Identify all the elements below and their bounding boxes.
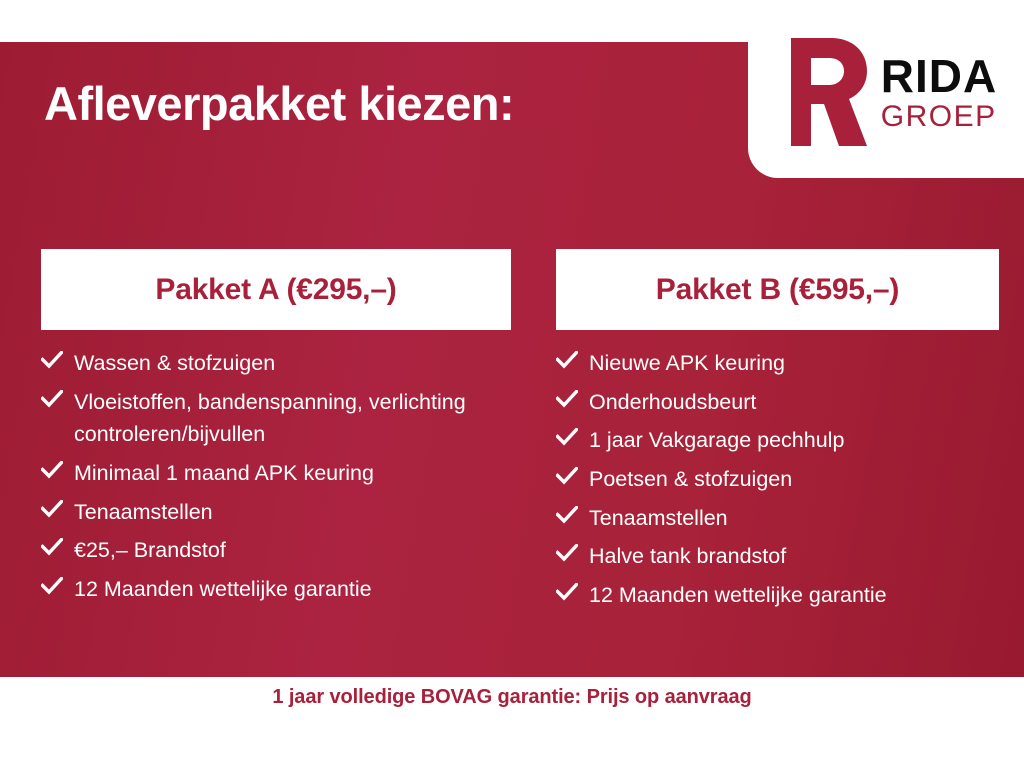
list-item: 1 jaar Vakgarage pechhulp — [556, 424, 999, 457]
brand-logo-panel: RIDA GROEP — [748, 0, 1024, 178]
list-item: Tenaamstellen — [556, 502, 999, 535]
feature-label: 12 Maanden wettelijke garantie — [74, 573, 372, 606]
list-item: Vloeistoffen, bandenspanning, verlichtin… — [41, 386, 511, 451]
packages-container: Pakket A (€295,–) Wassen & stofzuigen Vl… — [0, 249, 1024, 618]
package-column-a: Pakket A (€295,–) Wassen & stofzuigen Vl… — [41, 249, 511, 618]
footer-note: 1 jaar volledige BOVAG garantie: Prijs o… — [0, 686, 1024, 709]
logo-inner: RIDA GROEP — [781, 38, 997, 146]
check-icon — [41, 577, 63, 595]
check-icon — [41, 500, 63, 518]
feature-label: 1 jaar Vakgarage pechhulp — [589, 424, 844, 457]
footer-strip: 1 jaar volledige BOVAG garantie: Prijs o… — [0, 677, 1024, 768]
list-item: Onderhoudsbeurt — [556, 386, 999, 419]
list-item: Nieuwe APK keuring — [556, 347, 999, 380]
list-item: Tenaamstellen — [41, 496, 511, 529]
feature-label: Poetsen & stofzuigen — [589, 463, 792, 496]
check-icon — [556, 390, 578, 408]
feature-label: Minimaal 1 maand APK keuring — [74, 457, 374, 490]
list-item: €25,– Brandstof — [41, 534, 511, 567]
list-item: Wassen & stofzuigen — [41, 347, 511, 380]
check-icon — [556, 506, 578, 524]
check-icon — [556, 428, 578, 446]
check-icon — [556, 583, 578, 601]
check-icon — [41, 461, 63, 479]
package-b-feature-list: Nieuwe APK keuring Onderhoudsbeurt 1 jaa… — [556, 347, 999, 612]
feature-label: Nieuwe APK keuring — [589, 347, 785, 380]
check-icon — [41, 390, 63, 408]
list-item: Minimaal 1 maand APK keuring — [41, 457, 511, 490]
logo-name-primary: RIDA — [881, 53, 997, 99]
check-icon — [556, 351, 578, 369]
feature-label: Vloeistoffen, bandenspanning, verlichtin… — [74, 386, 494, 451]
package-a-header: Pakket A (€295,–) — [41, 249, 511, 330]
feature-label: Tenaamstellen — [74, 496, 213, 529]
feature-label: €25,– Brandstof — [74, 534, 226, 567]
logo-wordmark: RIDA GROEP — [881, 53, 997, 132]
package-a-feature-list: Wassen & stofzuigen Vloeistoffen, banden… — [41, 347, 511, 606]
feature-label: Tenaamstellen — [589, 502, 728, 535]
page-title: Afleverpakket kiezen: — [44, 76, 514, 131]
check-icon — [41, 351, 63, 369]
rida-r-mark-icon — [781, 38, 867, 146]
feature-label: Halve tank brandstof — [589, 540, 786, 573]
check-icon — [41, 538, 63, 556]
list-item: 12 Maanden wettelijke garantie — [41, 573, 511, 606]
feature-label: 12 Maanden wettelijke garantie — [589, 579, 887, 612]
package-column-b: Pakket B (€595,–) Nieuwe APK keuring Ond… — [556, 249, 999, 618]
list-item: Halve tank brandstof — [556, 540, 999, 573]
list-item: Poetsen & stofzuigen — [556, 463, 999, 496]
check-icon — [556, 467, 578, 485]
list-item: 12 Maanden wettelijke garantie — [556, 579, 999, 612]
feature-label: Onderhoudsbeurt — [589, 386, 756, 419]
feature-label: Wassen & stofzuigen — [74, 347, 275, 380]
poster-canvas: RIDA GROEP Afleverpakket kiezen: Pakket … — [0, 0, 1024, 768]
check-icon — [556, 544, 578, 562]
package-b-header: Pakket B (€595,–) — [556, 249, 999, 330]
logo-name-secondary: GROEP — [881, 102, 997, 132]
